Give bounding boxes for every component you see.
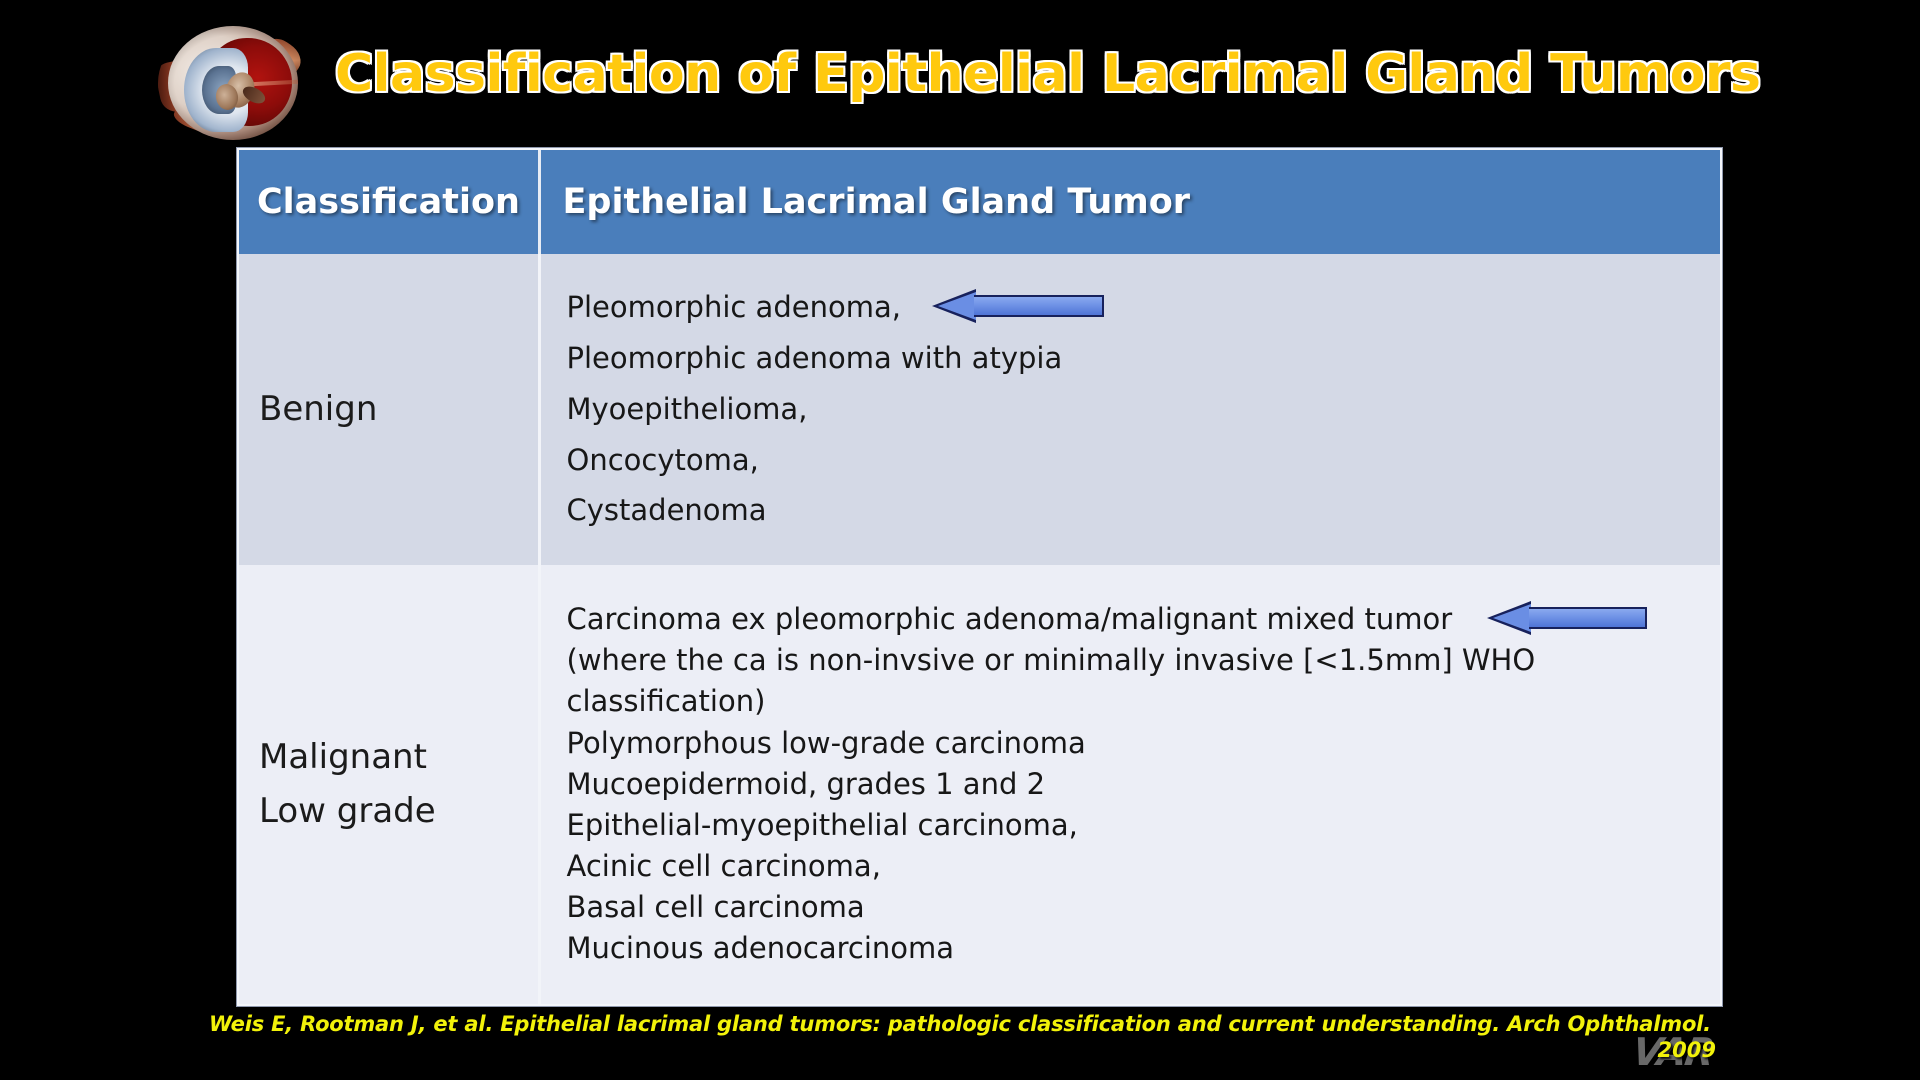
column-header-tumor: Epithelial Lacrimal Gland Tumor bbox=[539, 150, 1720, 254]
list-item: Myoepithelioma, bbox=[567, 384, 1721, 435]
category-label: Benign bbox=[259, 382, 538, 436]
slide-root: Classification of Epithelial Lacrimal Gl… bbox=[0, 0, 1920, 1080]
table-header-row: Classification Epithelial Lacrimal Gland… bbox=[239, 150, 1720, 254]
list-item-label: Pleomorphic adenoma, bbox=[567, 290, 901, 324]
list-item: Pleomorphic adenoma, bbox=[567, 282, 1721, 333]
list-item: Basal cell carcinoma bbox=[567, 887, 1721, 928]
tumor-list-malignant: Carcinoma ex pleomorphic adenoma/maligna… bbox=[539, 565, 1720, 1004]
list-item: (where the ca is non-invsive or minimall… bbox=[567, 640, 1657, 722]
list-item: Oncocytoma, bbox=[567, 435, 1721, 486]
tumor-list-benign: Pleomorphic adenoma, Pleomorphic adenoma… bbox=[539, 254, 1720, 565]
column-header-classification: Classification bbox=[239, 150, 539, 254]
list-item-label: Carcinoma ex pleomorphic adenoma/maligna… bbox=[567, 602, 1453, 636]
list-item: Cystadenoma bbox=[567, 485, 1721, 536]
list-item: Pleomorphic adenoma with atypia bbox=[567, 333, 1721, 384]
category-cell-malignant: Malignant Low grade bbox=[239, 565, 539, 1004]
list-item: Acinic cell carcinoma, bbox=[567, 846, 1721, 887]
citation: Weis E, Rootman J, et al. Epithelial lac… bbox=[0, 1012, 1920, 1062]
classification-table: Classification Epithelial Lacrimal Gland… bbox=[237, 148, 1722, 1006]
category-cell-benign: Benign bbox=[239, 254, 539, 565]
list-item: Mucinous adenocarcinoma bbox=[567, 928, 1721, 969]
table-row: Malignant Low grade Carcinoma ex pleomor… bbox=[239, 565, 1720, 1004]
eye-anatomy-icon bbox=[158, 22, 308, 144]
pointer-arrow-icon bbox=[1487, 603, 1647, 633]
list-item: Polymorphous low-grade carcinoma bbox=[567, 723, 1721, 764]
citation-year: 2009 bbox=[0, 1038, 1920, 1062]
category-label-line2: Low grade bbox=[259, 784, 538, 838]
page-title: Classification of Epithelial Lacrimal Gl… bbox=[335, 44, 1760, 104]
slide-header: Classification of Epithelial Lacrimal Gl… bbox=[0, 0, 1920, 148]
table-row: Benign Pleomorphic adenoma, Pleomorphic … bbox=[239, 254, 1720, 565]
citation-text: Weis E, Rootman J, et al. Epithelial lac… bbox=[0, 1012, 1920, 1038]
list-item: Carcinoma ex pleomorphic adenoma/maligna… bbox=[567, 599, 1721, 640]
list-item: Epithelial-myoepithelial carcinoma, bbox=[567, 805, 1721, 846]
category-label-line1: Malignant bbox=[259, 730, 538, 784]
pointer-arrow-icon bbox=[932, 291, 1104, 321]
list-item: Mucoepidermoid, grades 1 and 2 bbox=[567, 764, 1721, 805]
